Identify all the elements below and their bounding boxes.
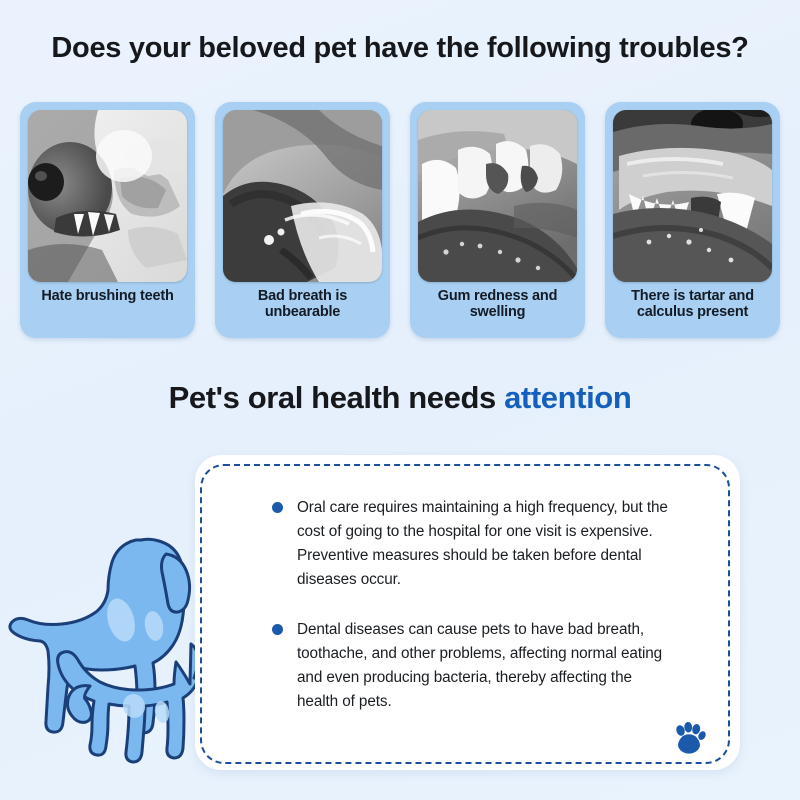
- sub-headline-accent: attention: [504, 380, 631, 415]
- list-item: Dental diseases can cause pets to have b…: [272, 618, 692, 715]
- trouble-card-list: Hate brushing teeth: [20, 102, 780, 338]
- trouble-caption-3: Gum redness and swelling: [418, 289, 577, 320]
- list-item: Oral care requires maintaining a high fr…: [272, 496, 692, 593]
- trouble-card-4[interactable]: There is tartar and calculus present: [605, 102, 780, 338]
- paw-print-icon: [672, 722, 706, 754]
- trouble-card-2[interactable]: Bad breath is unbearable: [215, 102, 390, 338]
- sub-headline-lead: Pet's oral health needs: [169, 380, 504, 415]
- trouble-photo-tartar-calculus: [613, 110, 772, 282]
- trouble-caption-1: Hate brushing teeth: [28, 289, 187, 305]
- trouble-caption-4: There is tartar and calculus present: [613, 289, 772, 320]
- infographic-root: Does your beloved pet have the following…: [0, 0, 800, 800]
- bullet-dot-icon: [272, 502, 283, 513]
- trouble-photo-gum-redness: [418, 110, 577, 282]
- trouble-card-1[interactable]: Hate brushing teeth: [20, 102, 195, 338]
- sub-headline: Pet's oral health needs attention: [0, 380, 800, 416]
- trouble-caption-2: Bad breath is unbearable: [223, 289, 382, 320]
- bullet-dot-icon: [272, 624, 283, 635]
- page-title: Does your beloved pet have the following…: [0, 32, 800, 65]
- trouble-card-3[interactable]: Gum redness and swelling: [410, 102, 585, 338]
- bullet-text-1: Oral care requires maintaining a high fr…: [297, 496, 675, 593]
- trouble-photo-brushing-teeth: [28, 110, 187, 282]
- bullet-text-2: Dental diseases can cause pets to have b…: [297, 618, 675, 715]
- info-bullet-list: Oral care requires maintaining a high fr…: [272, 496, 692, 739]
- trouble-photo-bad-breath: [223, 110, 382, 282]
